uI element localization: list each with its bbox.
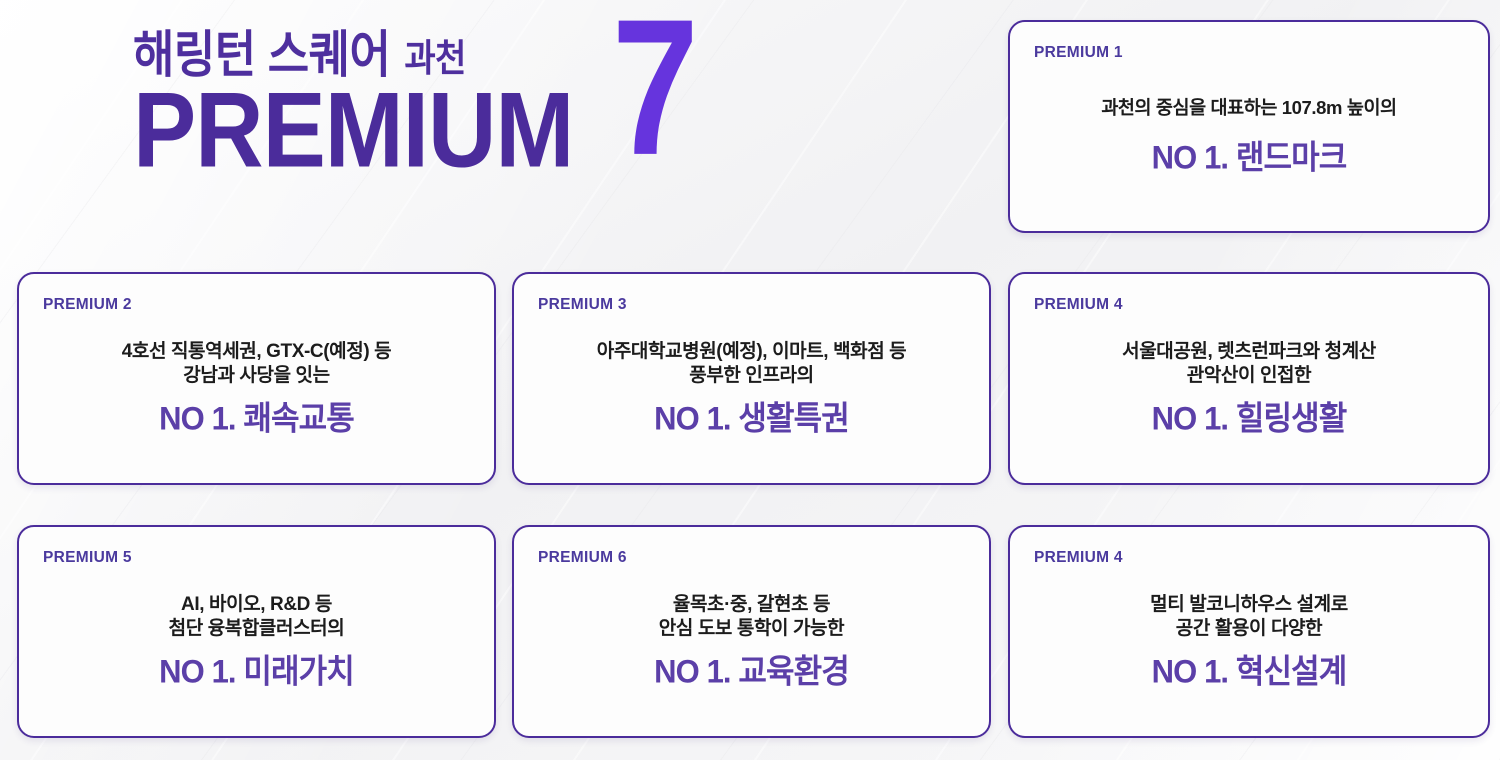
card-headline: NO 1. 혁신설계 <box>1028 654 1470 689</box>
premium-card-1[interactable]: PREMIUM 1 과천의 중심을 대표하는 107.8m 높이의 NO 1. … <box>1008 20 1490 233</box>
card-label: PREMIUM 2 <box>43 296 132 314</box>
premium-card-2[interactable]: PREMIUM 2 4호선 직통역세권, GTX-C(예정) 등 강남과 사당을… <box>17 272 496 485</box>
card-label: PREMIUM 3 <box>538 296 627 314</box>
card-headline: NO 1. 교육환경 <box>532 654 971 689</box>
card-headline: NO 1. 생활특권 <box>532 401 971 436</box>
card-body: 서울대공원, 렛츠런파크와 청계산 관악산이 인접한 NO 1. 힐링생활 <box>1010 340 1488 435</box>
header: 해링턴 스퀘어 과천 PREMIUM 7 <box>0 0 1000 260</box>
card-body: 율목초·중, 갈현초 등 안심 도보 통학이 가능한 NO 1. 교육환경 <box>514 593 989 688</box>
card-label: PREMIUM 1 <box>1034 44 1123 62</box>
premium-card-3[interactable]: PREMIUM 3 아주대학교병원(예정), 이마트, 백화점 등 풍부한 인프… <box>512 272 991 485</box>
card-subtitle: 과천의 중심을 대표하는 107.8m 높이의 <box>1028 96 1470 119</box>
premium-count-numeral: 7 <box>612 5 699 172</box>
card-headline: NO 1. 힐링생활 <box>1028 401 1470 436</box>
premium-card-5[interactable]: PREMIUM 5 AI, 바이오, R&D 등 첨단 융복합클러스터의 NO … <box>17 525 496 738</box>
card-subtitle: AI, 바이오, R&D 등 첨단 융복합클러스터의 <box>37 593 476 641</box>
card-subtitle: 4호선 직통역세권, GTX-C(예정) 등 강남과 사당을 잇는 <box>37 340 476 388</box>
card-label: PREMIUM 6 <box>538 549 627 567</box>
premium-card-7[interactable]: PREMIUM 4 멀티 발코니하우스 설계로 공간 활용이 다양한 NO 1.… <box>1008 525 1490 738</box>
card-label: PREMIUM 4 <box>1034 296 1123 314</box>
premium-card-4[interactable]: PREMIUM 4 서울대공원, 렛츠런파크와 청계산 관악산이 인접한 NO … <box>1008 272 1490 485</box>
card-body: 멀티 발코니하우스 설계로 공간 활용이 다양한 NO 1. 혁신설계 <box>1010 593 1488 688</box>
premium-card-6[interactable]: PREMIUM 6 율목초·중, 갈현초 등 안심 도보 통학이 가능한 NO … <box>512 525 991 738</box>
card-subtitle: 아주대학교병원(예정), 이마트, 백화점 등 풍부한 인프라의 <box>532 340 971 388</box>
card-body: 아주대학교병원(예정), 이마트, 백화점 등 풍부한 인프라의 NO 1. 생… <box>514 340 989 435</box>
card-label: PREMIUM 4 <box>1034 549 1123 567</box>
card-headline: NO 1. 미래가치 <box>37 654 476 689</box>
card-body: 과천의 중심을 대표하는 107.8m 높이의 NO 1. 랜드마크 <box>1010 96 1488 175</box>
card-subtitle: 멀티 발코니하우스 설계로 공간 활용이 다양한 <box>1028 593 1470 641</box>
card-subtitle: 율목초·중, 갈현초 등 안심 도보 통학이 가능한 <box>532 593 971 641</box>
card-headline: NO 1. 쾌속교통 <box>37 401 476 436</box>
card-headline: NO 1. 랜드마크 <box>1028 140 1470 175</box>
promo-board: 해링턴 스퀘어 과천 PREMIUM 7 PREMIUM 1 과천의 중심을 대… <box>0 0 1500 760</box>
card-body: 4호선 직통역세권, GTX-C(예정) 등 강남과 사당을 잇는 NO 1. … <box>19 340 494 435</box>
card-body: AI, 바이오, R&D 등 첨단 융복합클러스터의 NO 1. 미래가치 <box>19 593 494 688</box>
card-label: PREMIUM 5 <box>43 549 132 567</box>
card-subtitle: 서울대공원, 렛츠런파크와 청계산 관악산이 인접한 <box>1028 340 1470 388</box>
